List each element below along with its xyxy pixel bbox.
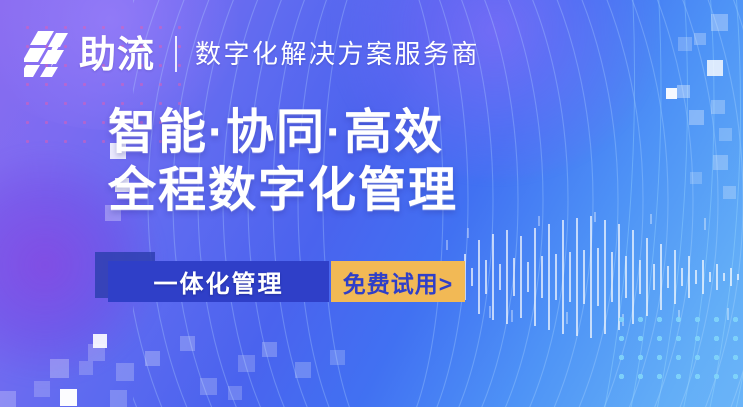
banner-content: 助流 数字化解决方案服务商 智能·协同·高效 全程数字化管理 一体化管理 免费试… bbox=[0, 0, 743, 407]
headline-block: 智能·协同·高效 全程数字化管理 bbox=[108, 104, 458, 220]
headline-line-2: 全程数字化管理 bbox=[108, 162, 458, 220]
brand-divider bbox=[175, 36, 177, 72]
logo-wordmark: 助流 bbox=[79, 36, 155, 73]
headline-line-1: 智能·协同·高效 bbox=[108, 104, 458, 162]
promo-banner: 助流 数字化解决方案服务商 智能·协同·高效 全程数字化管理 一体化管理 免费试… bbox=[0, 0, 743, 407]
brand-bar: 助流 数字化解决方案服务商 bbox=[24, 28, 480, 80]
free-trial-button[interactable]: 免费试用> bbox=[331, 261, 465, 302]
flow-lightning-icon bbox=[24, 29, 70, 79]
brand-tagline: 数字化解决方案服务商 bbox=[195, 41, 480, 67]
cta-row: 一体化管理 免费试用> bbox=[108, 261, 465, 302]
integrated-management-button[interactable]: 一体化管理 bbox=[108, 261, 329, 302]
